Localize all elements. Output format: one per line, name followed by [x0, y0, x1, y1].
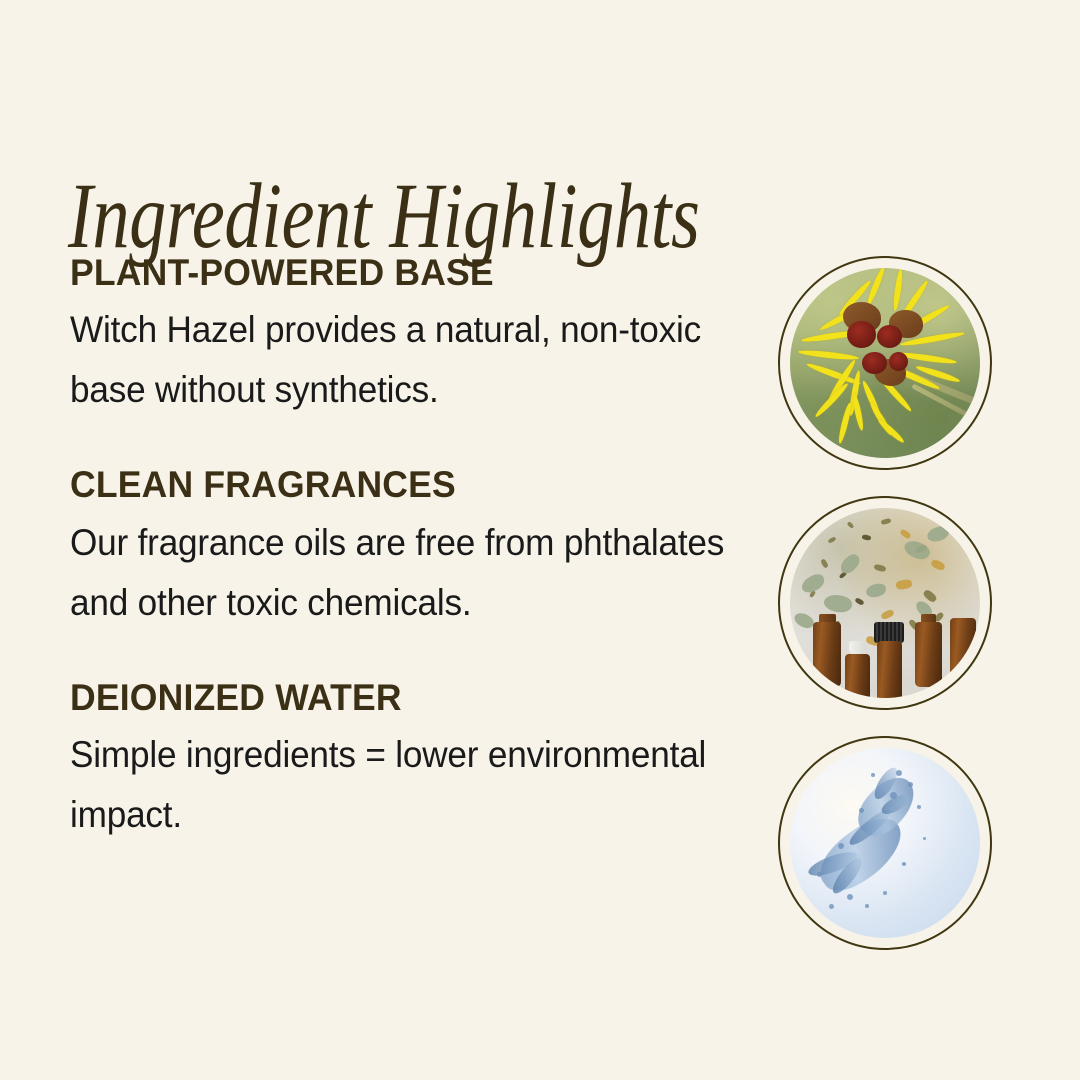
highlight-body: Witch Hazel provides a natural, non-toxi… [70, 300, 726, 420]
highlight-body: Our fragrance oils are free from phthala… [70, 513, 726, 633]
highlight-item-plant-powered-base: PLANT-POWERED BASE Witch Hazel provides … [70, 252, 760, 420]
highlight-item-clean-fragrances: CLEAN FRAGRANCES Our fragrance oils are … [70, 464, 760, 632]
highlight-heading: PLANT-POWERED BASE [70, 252, 732, 293]
image-frame-witch-hazel [778, 256, 992, 470]
water-splash-photo [790, 748, 980, 938]
essential-oils-artwork [790, 508, 980, 698]
page-title: Ingredient Highlights [68, 170, 700, 263]
highlight-item-deionized-water: DEIONIZED WATER Simple ingredients = low… [70, 677, 760, 845]
highlight-heading: DEIONIZED WATER [70, 677, 732, 718]
image-frame-essential-oils [778, 496, 992, 710]
highlight-heading: CLEAN FRAGRANCES [70, 464, 732, 505]
highlight-body: Simple ingredients = lower environmental… [70, 725, 726, 845]
essential-oil-bottles-photo [790, 508, 980, 698]
water-splash-artwork [801, 763, 953, 923]
highlights-list: PLANT-POWERED BASE Witch Hazel provides … [70, 252, 760, 845]
ingredient-highlights-card: Ingredient Highlights PLANT-POWERED BASE… [0, 0, 1080, 1080]
witch-hazel-flower-photo [790, 268, 980, 458]
image-frame-water-splash [778, 736, 992, 950]
witch-hazel-artwork [790, 268, 980, 458]
